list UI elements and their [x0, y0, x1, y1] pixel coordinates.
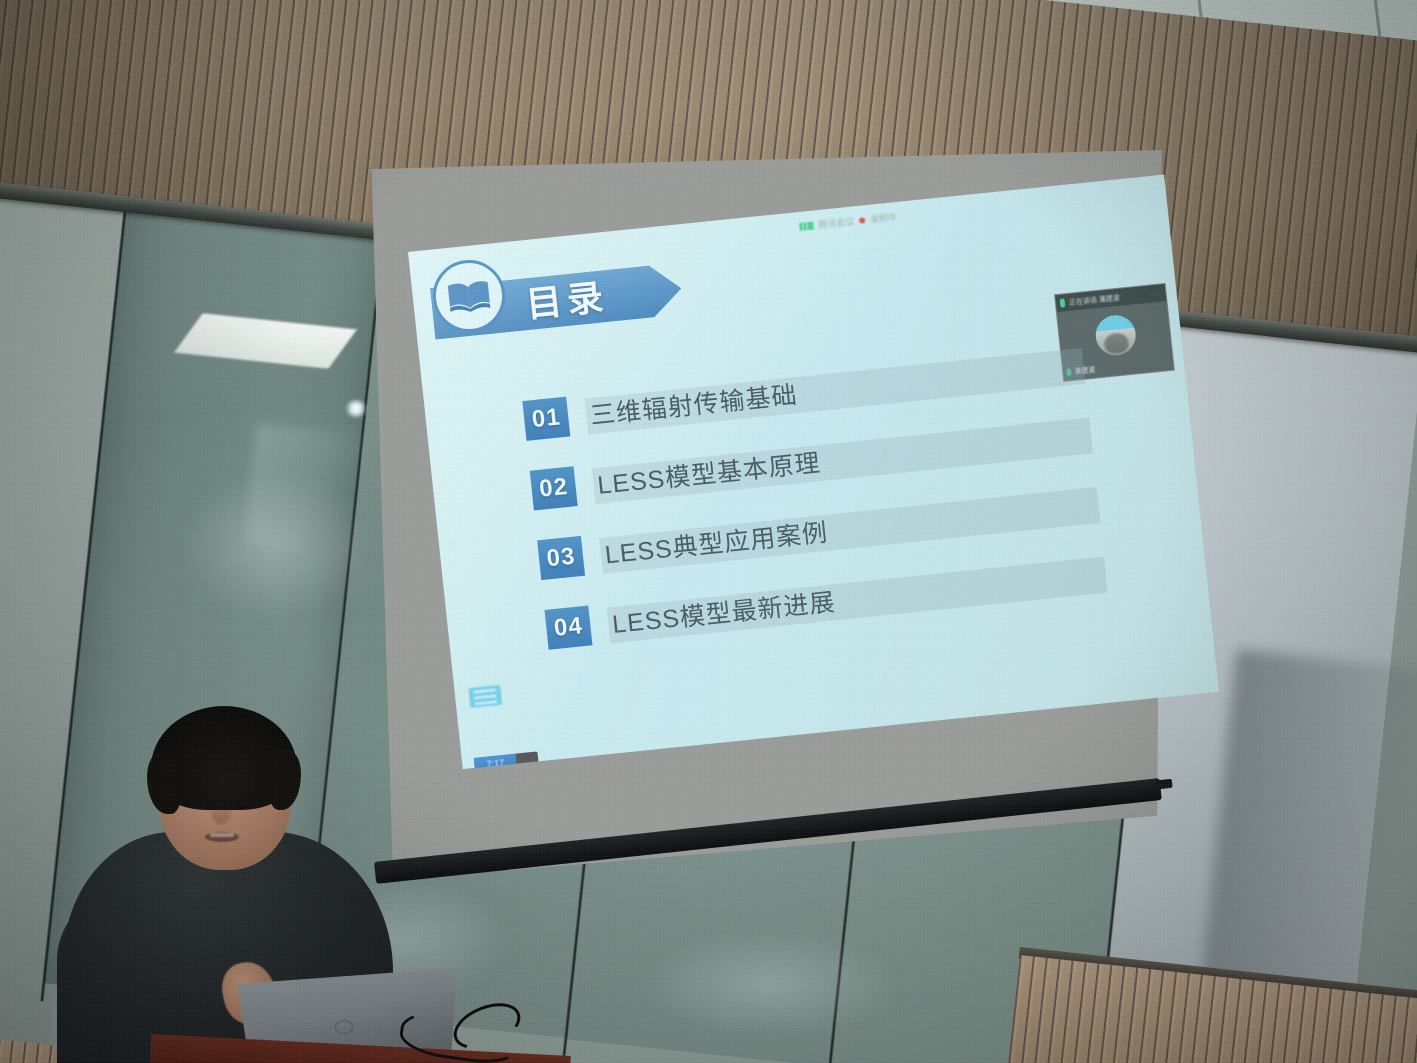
item-number: 02	[530, 466, 578, 510]
page-title: 目录	[524, 276, 610, 326]
speaking-label: 正在讲话 潘建波	[1068, 292, 1120, 307]
meeting-app-label: 腾讯会议	[818, 214, 855, 231]
presenter-mouth	[205, 832, 239, 842]
conference-room-photo: 腾讯会议 录制中 正在讲话 潘建波 ··· 潘建波	[0, 0, 1417, 1063]
video-tile-header: 正在讲话 潘建波 ···	[1055, 284, 1166, 312]
annotation-tool-badge[interactable]	[468, 685, 502, 708]
signal-bars-icon	[799, 221, 814, 230]
presenter	[55, 700, 455, 1063]
item-label: LESS模型最新进展	[610, 582, 837, 641]
projected-slide: 腾讯会议 录制中 正在讲话 潘建波 ··· 潘建波	[408, 175, 1219, 770]
item-number: 04	[544, 605, 592, 649]
presenter-hair	[151, 706, 297, 810]
item-number: 03	[537, 536, 585, 580]
item-number: 01	[522, 397, 570, 441]
point-light-reflection	[345, 400, 367, 417]
item-label: LESS模型基本原理	[596, 443, 823, 502]
glass-reflection-streak	[244, 424, 386, 557]
item-label: LESS典型应用案例	[603, 513, 830, 572]
recording-label: 录制中	[869, 210, 897, 226]
toc-list: 01 三维辐射传输基础 02 LESS模型基本原理 03 LESS典型应用案例 …	[522, 338, 1148, 678]
projection-screen: 腾讯会议 录制中 正在讲话 潘建波 ··· 潘建波	[366, 150, 1166, 910]
meeting-status-strip: 腾讯会议 录制中	[799, 210, 898, 233]
more-options-icon[interactable]: ···	[1150, 288, 1162, 298]
laptop-logo	[335, 1020, 353, 1034]
recording-dot-icon	[859, 217, 866, 224]
microphone-icon	[1060, 298, 1066, 307]
